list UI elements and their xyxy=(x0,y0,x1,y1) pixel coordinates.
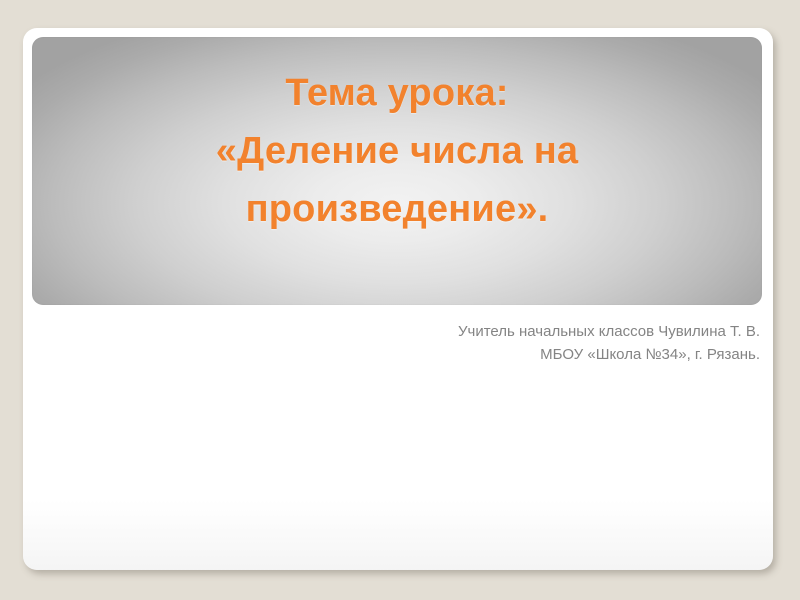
slide-title: Тема урока: «Деление числа на произведен… xyxy=(32,37,762,238)
title-line-2: «Деление числа на xyxy=(32,122,762,180)
slide-subtitle: Учитель начальных классов Чувилина Т. В.… xyxy=(43,320,760,366)
subtitle-line-1: Учитель начальных классов Чувилина Т. В. xyxy=(43,320,760,343)
slide-card: Тема урока: «Деление числа на произведен… xyxy=(23,28,773,570)
title-line-1: Тема урока: xyxy=(32,64,762,122)
subtitle-line-2: МБОУ «Школа №34», г. Рязань. xyxy=(43,343,760,366)
title-banner-panel: Тема урока: «Деление числа на произведен… xyxy=(32,37,762,305)
title-line-3: произведение». xyxy=(32,180,762,238)
slide-canvas: Тема урока: «Деление числа на произведен… xyxy=(0,0,800,600)
